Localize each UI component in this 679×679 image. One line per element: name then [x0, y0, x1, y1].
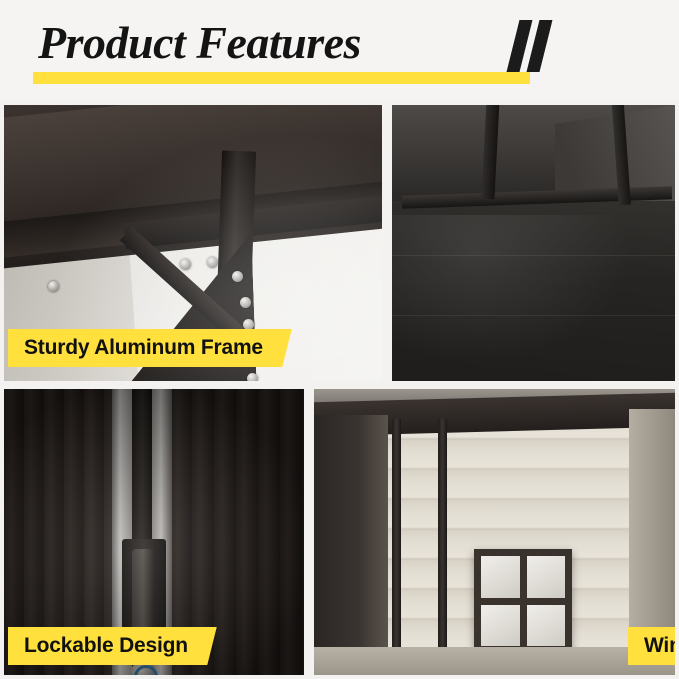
caption-sturdy-aluminum-frame: Sturdy Aluminum Frame	[8, 329, 279, 367]
window-pane	[527, 556, 566, 598]
feature-image-impact-resistant-floor	[392, 105, 675, 381]
caption-text: Sturdy Aluminum Frame	[24, 336, 263, 359]
window-pane	[527, 605, 566, 647]
feature-grid: Sturdy Aluminum Frame Impact Resistant F…	[0, 101, 679, 679]
feature-card-sturdy-aluminum-frame: Sturdy Aluminum Frame	[4, 105, 382, 381]
window-pane	[481, 556, 520, 598]
page-title: Product Features	[38, 16, 361, 69]
window-panes	[481, 556, 565, 646]
feature-card-lockable-design: Lockable Design	[4, 389, 304, 675]
double-slash-icon	[513, 20, 573, 72]
shed-shaded-corner	[314, 415, 388, 675]
feature-image-windows-for-natural-light	[314, 389, 675, 675]
caption-lockable-design: Lockable Design	[8, 627, 204, 665]
caption-text: Lockable Design	[24, 634, 188, 657]
caption-windows-for-natural-light: Windows for Natural Light	[628, 627, 675, 665]
wall-trim-post-2	[438, 419, 447, 675]
ground-strip	[314, 647, 675, 675]
floor-sheen	[392, 215, 675, 381]
window-pane	[481, 605, 520, 647]
title-underline-highlight	[33, 72, 530, 84]
product-features-infographic: Product Features	[0, 0, 679, 679]
feature-card-windows-for-natural-light: Windows for Natural Light	[314, 389, 675, 675]
feature-card-impact-resistant-floor: Impact Resistant Floor	[392, 105, 675, 381]
wall-trim-post-1	[392, 419, 401, 675]
caption-text: Windows for Natural Light	[644, 634, 675, 657]
header: Product Features	[0, 0, 679, 101]
